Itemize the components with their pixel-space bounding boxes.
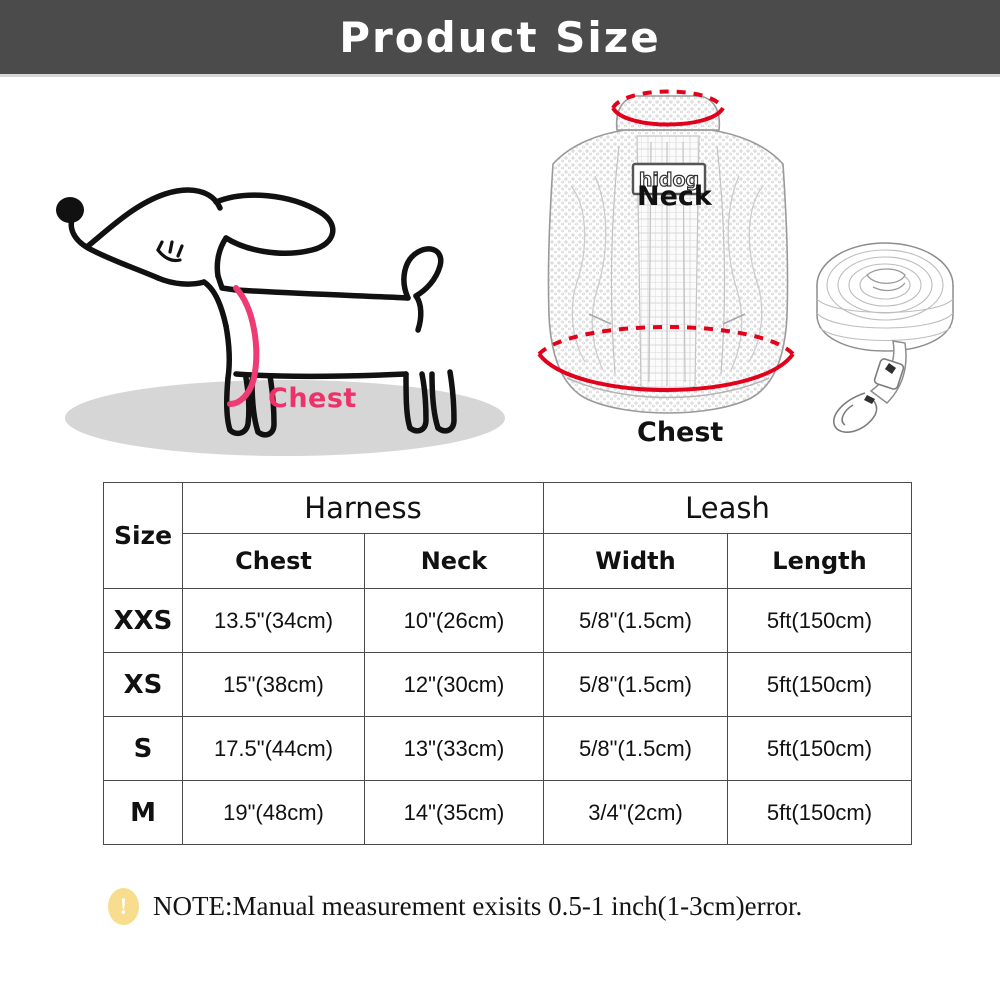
note-row: ! NOTE:Manual measurement exisits 0.5-1 … xyxy=(108,888,802,925)
table-row: S 17.5"(44cm) 13"(33cm) 5/8"(1.5cm) 5ft(… xyxy=(104,717,912,781)
header-cell-length: Length xyxy=(728,534,912,589)
cell-neck: 12"(30cm) xyxy=(365,653,544,717)
header-cell-width: Width xyxy=(544,534,728,589)
dog-nose xyxy=(56,197,84,223)
table-row: XXS 13.5"(34cm) 10"(26cm) 5/8"(1.5cm) 5f… xyxy=(104,589,912,653)
table-header-row-groups: Size Harness Leash xyxy=(104,483,912,534)
dog-chest-label: Chest xyxy=(268,383,357,414)
cell-size: S xyxy=(104,717,183,781)
cell-chest: 19"(48cm) xyxy=(183,781,365,845)
exclamation-glyph: ! xyxy=(120,895,128,918)
harness-neck-label: Neck xyxy=(637,181,712,212)
cell-size: XS xyxy=(104,653,183,717)
header-divider xyxy=(0,74,1000,77)
header-banner: Product Size xyxy=(0,0,1000,74)
cell-chest: 15"(38cm) xyxy=(183,653,365,717)
cell-length: 5ft(150cm) xyxy=(728,717,912,781)
exclamation-icon: ! xyxy=(108,888,139,925)
leash-illustration xyxy=(805,223,970,438)
cell-neck: 13"(33cm) xyxy=(365,717,544,781)
illustration-band: Chest xyxy=(0,78,1000,468)
cell-neck: 14"(35cm) xyxy=(365,781,544,845)
header-cell-chest: Chest xyxy=(183,534,365,589)
cell-size: XXS xyxy=(104,589,183,653)
cell-length: 5ft(150cm) xyxy=(728,589,912,653)
page-title: Product Size xyxy=(339,13,661,62)
cell-size: M xyxy=(104,781,183,845)
size-chart-table: Size Harness Leash Chest Neck Width Leng… xyxy=(103,482,912,845)
dog-illustration xyxy=(40,168,530,458)
table-header-row-columns: Chest Neck Width Length xyxy=(104,534,912,589)
size-chart-table-wrapper: Size Harness Leash Chest Neck Width Leng… xyxy=(103,482,911,845)
cell-length: 5ft(150cm) xyxy=(728,781,912,845)
cell-chest: 13.5"(34cm) xyxy=(183,589,365,653)
header-cell-leash: Leash xyxy=(544,483,912,534)
cell-width: 5/8"(1.5cm) xyxy=(544,589,728,653)
header-cell-neck: Neck xyxy=(365,534,544,589)
cell-width: 5/8"(1.5cm) xyxy=(544,717,728,781)
cell-width: 3/4"(2cm) xyxy=(544,781,728,845)
note-text: NOTE:Manual measurement exisits 0.5-1 in… xyxy=(153,891,802,922)
header-cell-harness: Harness xyxy=(183,483,544,534)
cell-chest: 17.5"(44cm) xyxy=(183,717,365,781)
harness-illustration: hidog xyxy=(515,86,820,436)
cell-length: 5ft(150cm) xyxy=(728,653,912,717)
cell-neck: 10"(26cm) xyxy=(365,589,544,653)
header-cell-size: Size xyxy=(104,483,183,589)
table-row: XS 15"(38cm) 12"(30cm) 5/8"(1.5cm) 5ft(1… xyxy=(104,653,912,717)
cell-width: 5/8"(1.5cm) xyxy=(544,653,728,717)
table-row: M 19"(48cm) 14"(35cm) 3/4"(2cm) 5ft(150c… xyxy=(104,781,912,845)
harness-chest-label: Chest xyxy=(637,417,723,448)
